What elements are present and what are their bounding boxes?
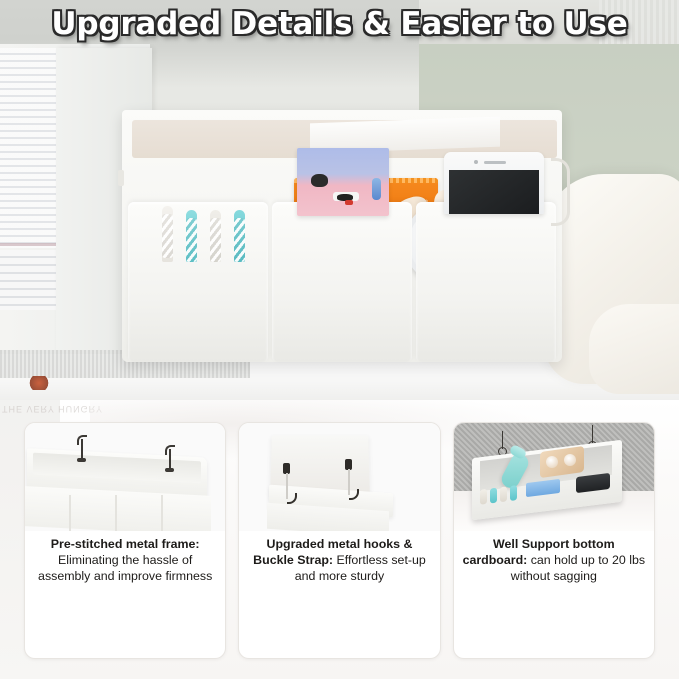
feature-caption-body: Eliminating the hassle of assembly and i… [38, 553, 212, 583]
metal-hook-base-right [165, 468, 174, 472]
pen-2 [186, 210, 197, 262]
pen-3 [500, 486, 507, 502]
pen-4 [234, 210, 245, 262]
notebook-red-accent [345, 200, 353, 205]
feature-caption-hooks-strap: Upgraded metal hooks & Buckle Strap: Eff… [239, 531, 439, 658]
phone-screen [449, 170, 539, 214]
feature-caption-title: Pre-stitched metal frame: [51, 537, 200, 551]
feature-caption-bottom-cardboard: Well Support bottom cardboard: can hold … [454, 531, 654, 658]
feature-image-metal-frame [25, 423, 225, 531]
pen-2 [490, 488, 497, 504]
pillow-secondary [589, 304, 679, 394]
feature-panel-hooks-strap[interactable]: Upgraded metal hooks & Buckle Strap: Eff… [238, 422, 440, 659]
feature-panel-metal-frame[interactable]: Pre-stitched metal frame: Eliminating th… [24, 422, 226, 659]
feature-caption-body: can hold up to 20 lbs without sagging [511, 553, 645, 583]
notebook-blue-accent [372, 178, 381, 200]
feature-image-hooks-strap [239, 423, 439, 531]
smartphone [444, 152, 544, 214]
earbud-right [564, 454, 576, 466]
caddy-side-tab [118, 170, 124, 186]
caddy-pocket-right [416, 202, 556, 362]
bedside-caddy: OO !MM! sweet snack 11 12 1 [122, 110, 562, 362]
phone-camera-icon [474, 160, 478, 164]
notebook-cat-icon [311, 174, 328, 187]
feature-image-bottom-cardboard [454, 423, 654, 531]
pocket-seam-1 [69, 495, 71, 531]
pen-1 [480, 489, 487, 505]
infographic-page: OO !MM! sweet snack 11 12 1 [0, 0, 679, 679]
caddy-pocket-center [272, 202, 412, 362]
feature-panels: Pre-stitched metal frame: Eliminating th… [0, 400, 679, 679]
pen-4 [510, 485, 517, 501]
metal-hook-icon-left [81, 439, 83, 459]
page-title: Upgraded Details & Easier to Use [0, 6, 679, 42]
phone-speaker-icon [484, 161, 506, 164]
notebook [297, 148, 389, 216]
feature-caption-metal-frame: Pre-stitched metal frame: Eliminating th… [25, 531, 225, 658]
metal-hook-base-left [77, 458, 86, 462]
pocket-seam-3 [161, 495, 163, 531]
hero-image: OO !MM! sweet snack 11 12 1 [0, 0, 679, 400]
metal-hook-icon-right [169, 449, 171, 469]
pocket-seam-2 [115, 495, 117, 531]
feature-strip: THE VERY HUNGRY Pre-stitche [0, 400, 679, 679]
earbud-left [546, 456, 558, 468]
pen-3 [210, 210, 221, 262]
caddy-side-strap [551, 158, 570, 226]
pen-1 [162, 206, 173, 262]
feature-panel-bottom-cardboard[interactable]: Well Support bottom cardboard: can hold … [453, 422, 655, 659]
rug-accent [28, 376, 50, 390]
pen-set [158, 206, 268, 262]
